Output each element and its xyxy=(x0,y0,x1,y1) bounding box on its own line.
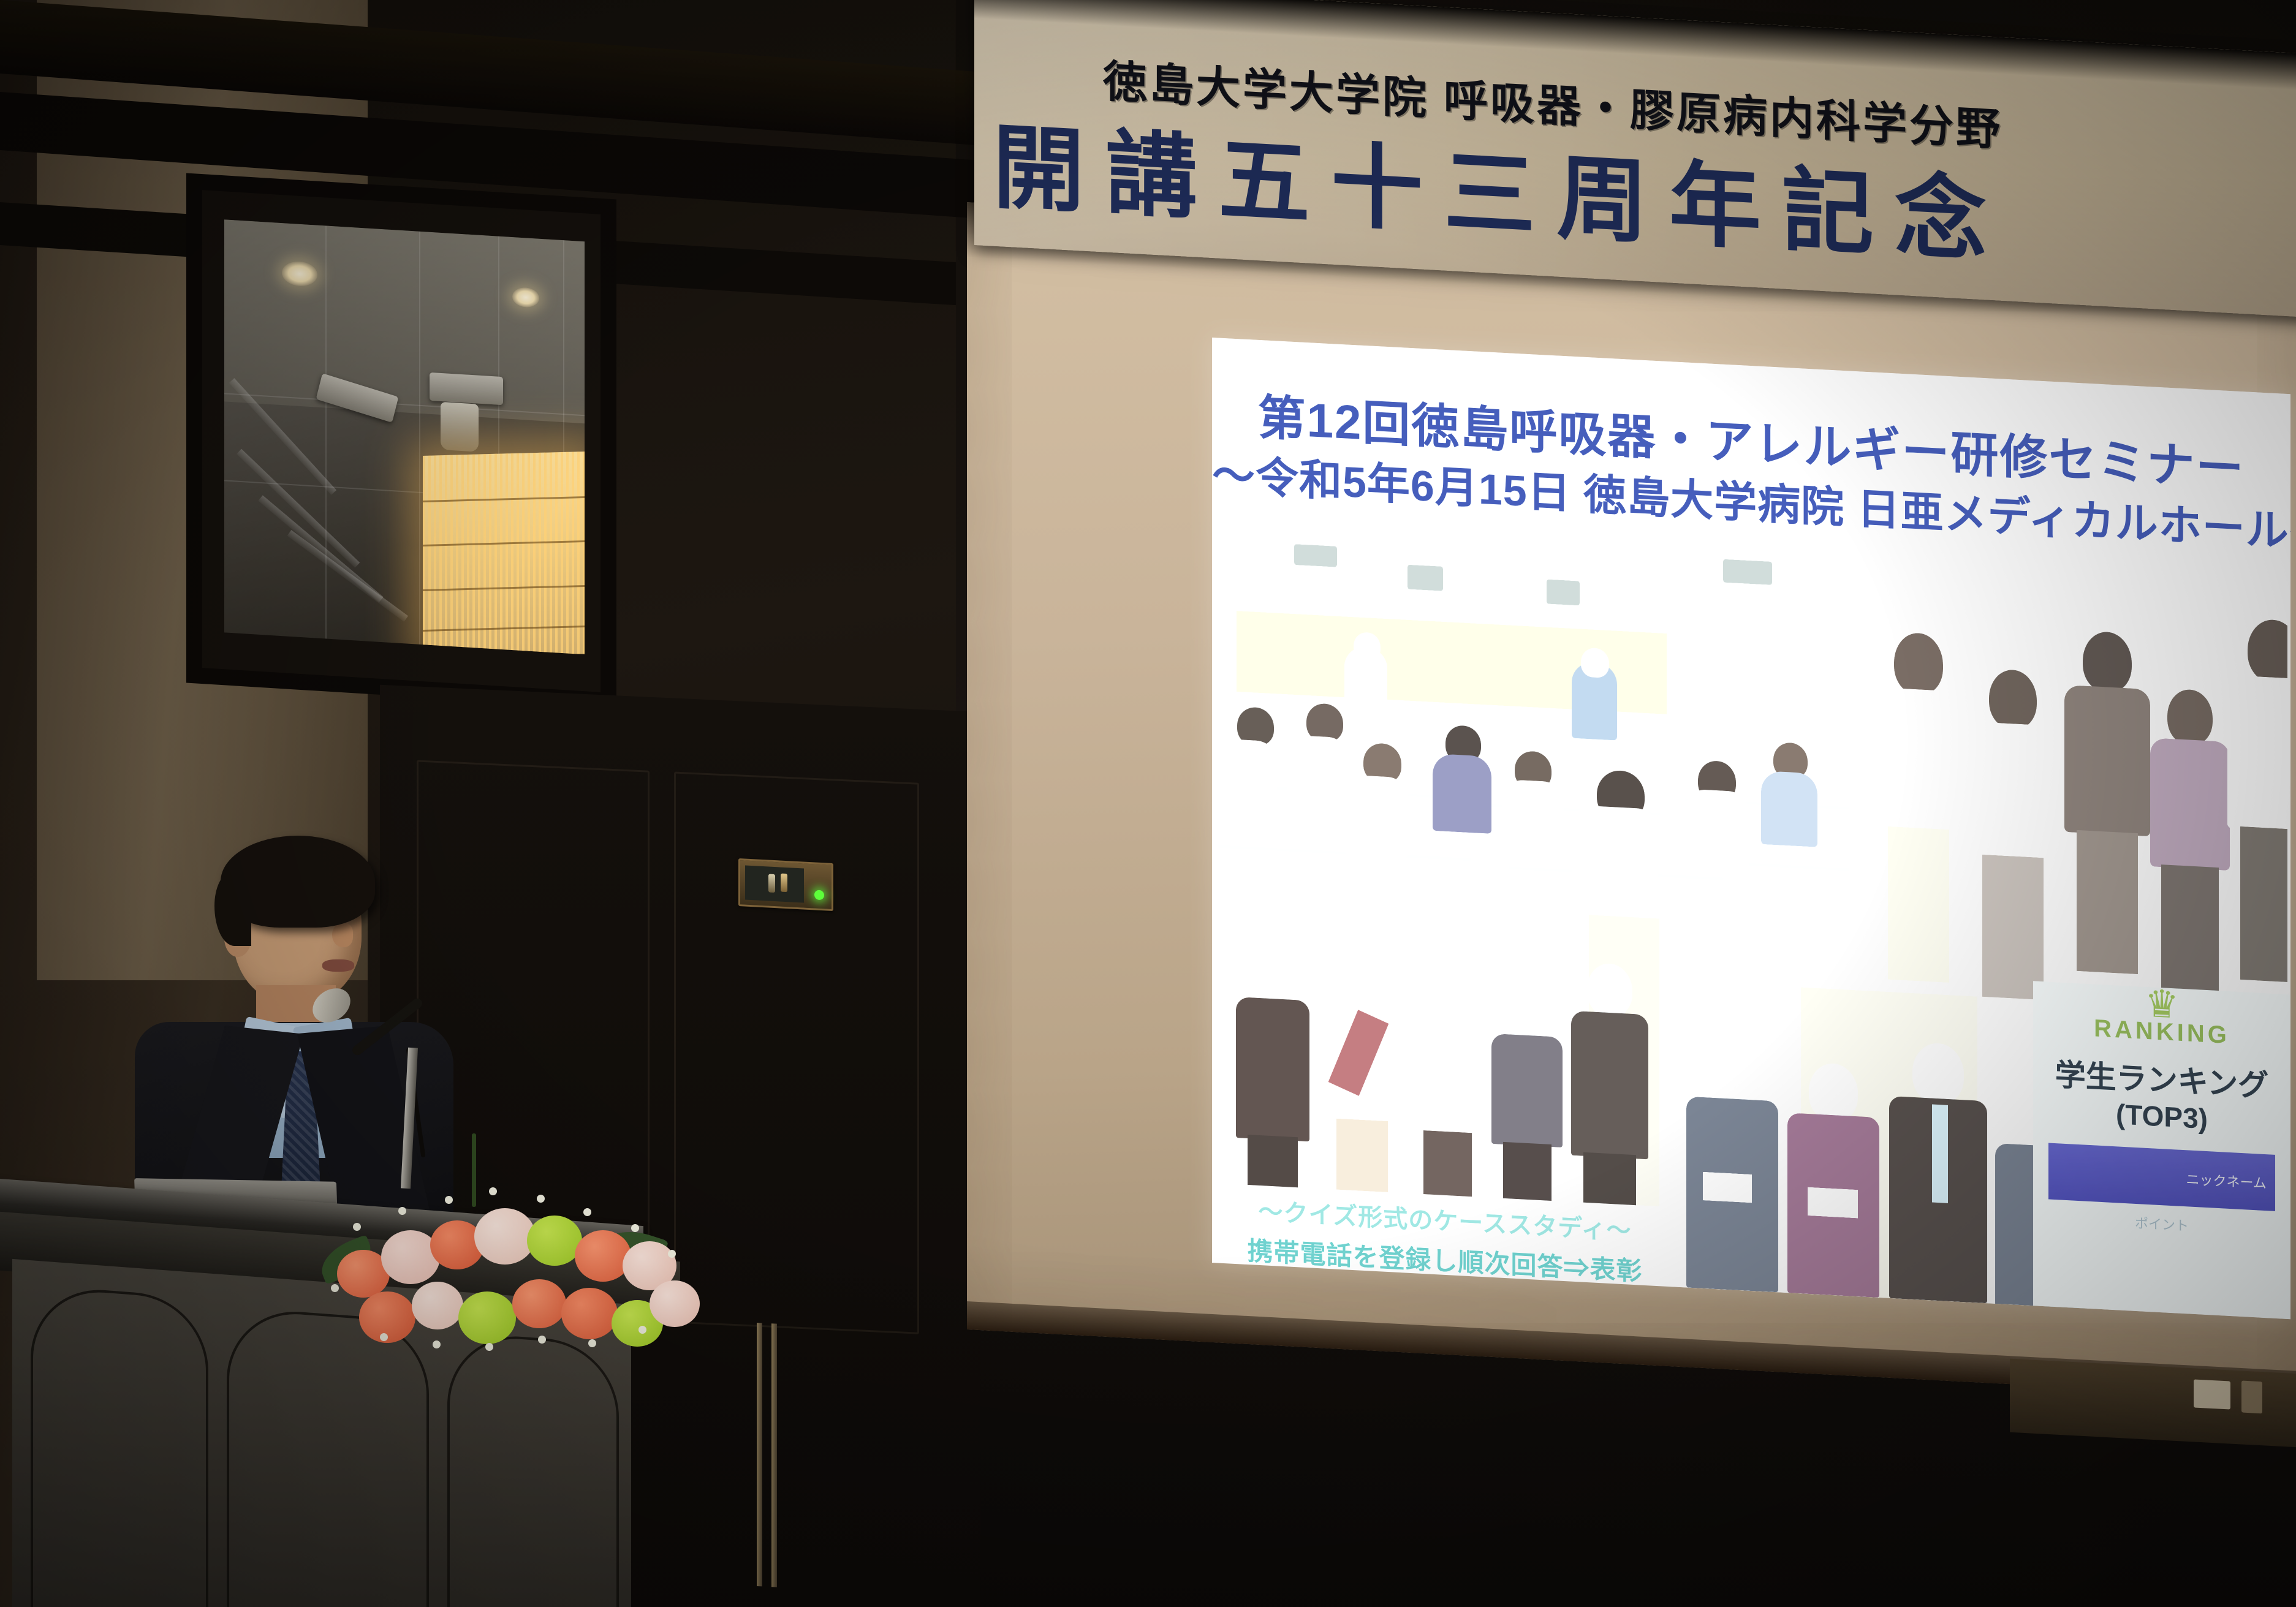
chandelier-reflection xyxy=(423,452,585,654)
ranking-sub-label: ポイント xyxy=(2033,1207,2290,1240)
projected-slide: 第12回徳島呼吸器・アレルギー研修セミナー 〜令和5年6月15日 徳島大学病院 … xyxy=(1212,338,2290,1319)
wall-trim-right xyxy=(2010,1359,2296,1448)
ceiling-projector xyxy=(430,372,503,405)
ranking-bar-label: ニックネーム xyxy=(2186,1168,2266,1192)
mirrored-window xyxy=(202,190,601,692)
mirror-reflection xyxy=(224,219,585,654)
ranking-panel: ♛ RANKING 学生ランキング (TOP3) ニックネーム ポイント xyxy=(2033,981,2290,1319)
flower-arrangement xyxy=(325,1152,729,1409)
stage-spotlight xyxy=(441,402,479,452)
conference-photo-scene: 第12回徳島呼吸器・アレルギー研修セミナー 〜令和5年6月15日 徳島大学病院 … xyxy=(0,0,2296,1607)
speaker-hair xyxy=(221,836,375,928)
wall-switch-plate[interactable] xyxy=(2194,1379,2230,1409)
wall-outlet-plate[interactable] xyxy=(2241,1380,2262,1413)
power-led-icon xyxy=(814,890,824,900)
speaker-nose xyxy=(332,923,353,947)
ceiling-panel-reflection xyxy=(224,219,585,423)
podium-area xyxy=(0,845,778,1607)
projection-screen: 第12回徳島呼吸器・アレルギー研修セミナー 〜令和5年6月15日 徳島大学病院 … xyxy=(967,202,2296,1400)
speaker-mouth xyxy=(322,959,354,972)
ranking-bar: ニックネーム xyxy=(2048,1143,2275,1211)
photo-lecture-hall xyxy=(1218,521,1849,922)
